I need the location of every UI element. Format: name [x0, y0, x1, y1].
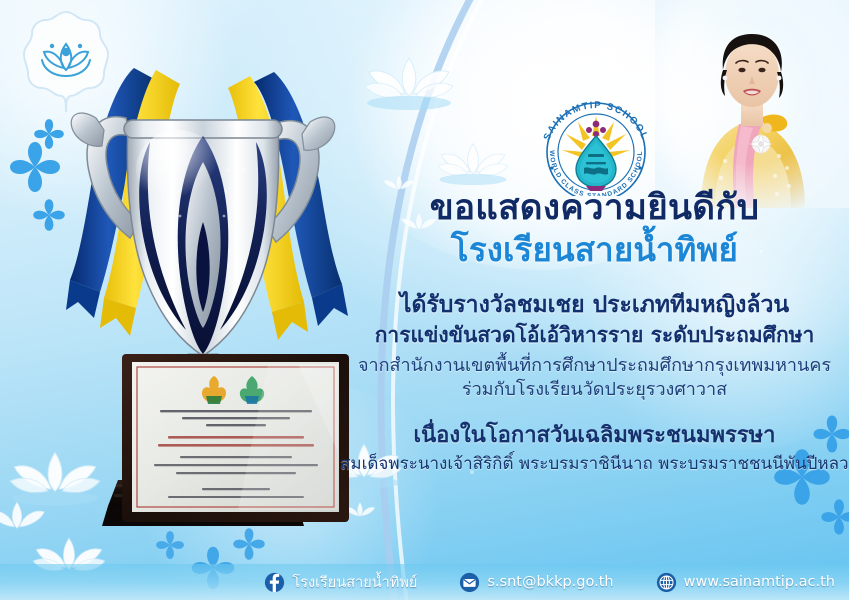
award-competition: การแข่งขันสวดโอ้เอ้วิหารราย ระดับประถมศึ…: [340, 324, 849, 347]
four-petal-diamond-icon: [155, 530, 185, 560]
facebook-label: โรงเรียนสายน้ำทิพย์: [292, 571, 417, 594]
contact-email[interactable]: s.snt@bkkp.go.th: [459, 572, 613, 593]
contact-website[interactable]: www.sainamtip.ac.th: [656, 572, 835, 593]
contact-facebook[interactable]: โรงเรียนสายน้ำทิพย์: [264, 571, 417, 594]
email-label: s.snt@bkkp.go.th: [487, 574, 613, 590]
globe-icon: [656, 572, 677, 593]
congratulations-banner: SAINAMTIP SCHOOL WORLD CLASS STANDARD SC…: [0, 0, 849, 600]
royal-portrait-icon: [655, 0, 849, 208]
school-logo: SAINAMTIP SCHOOL WORLD CLASS STANDARD SC…: [528, 92, 664, 196]
website-label: www.sainamtip.ac.th: [684, 574, 835, 590]
lotus-flower-icon: [355, 48, 463, 114]
announcement-text-block: ขอแสดงความยินดีกับ โรงเรียนสายน้ำทิพย์ ไ…: [340, 190, 849, 473]
lotus-flower-icon: [430, 135, 516, 189]
facebook-icon: [264, 572, 285, 593]
organizer-secondary: ร่วมกับโรงเรียนวัดประยุรวงศาวาส: [340, 380, 849, 399]
award-plaque-icon: [118, 352, 353, 530]
organizer-primary: จากสำนักงานเขตพื้นที่การศึกษาประถมศึกษาก…: [340, 356, 849, 375]
sparkle: [520, 60, 524, 64]
four-petal-diamond-icon: [232, 527, 266, 561]
envelope-icon: [459, 572, 480, 593]
four-petal-diamond-icon: [820, 498, 849, 536]
occasion-title: เนื่องในโอกาสวันเฉลิมพระชนมพรรษา: [340, 424, 849, 448]
contact-footer-bar: โรงเรียนสายน้ำทิพย์ s.snt@bkkp.go.th: [0, 564, 849, 600]
headline-school-name: โรงเรียนสายน้ำทิพย์: [340, 232, 849, 268]
occasion-subject: สมเด็จพระนางเจ้าสิริกิติ์ พระบรมราชินีนา…: [340, 455, 849, 473]
award-title: ได้รับรางวัลชมเชย ประเภททีมหญิงล้วน: [340, 293, 849, 318]
headline-primary: ขอแสดงความยินดีกับ: [340, 190, 849, 228]
